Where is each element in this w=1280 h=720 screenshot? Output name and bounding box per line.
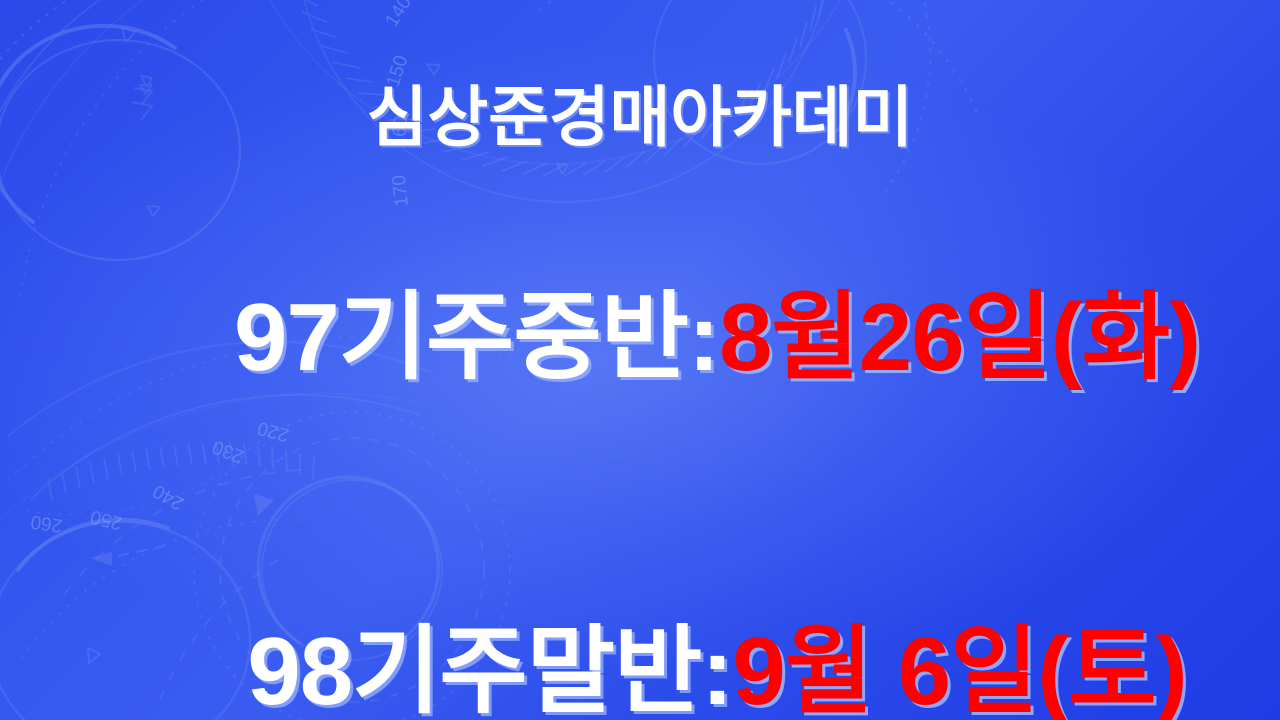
poster-canvas: 140 150 160 170 220 230 240 250 260 심상준경… bbox=[0, 0, 1280, 720]
schedule-line-97: 97기주중반:8월26일(화) bbox=[80, 168, 1200, 508]
schedule-97-date: 8월26일(화) bbox=[719, 284, 1200, 391]
schedule-line-98: 98기주말반:9월 6일(토) bbox=[93, 502, 1186, 720]
schedule-98-label: 98기주말반: bbox=[247, 618, 732, 720]
academy-title: 심상준경매아카데미 bbox=[367, 84, 913, 150]
schedule-98-date: 9월 6일(토) bbox=[732, 618, 1186, 720]
schedule-97-label: 97기주중반: bbox=[234, 284, 719, 391]
poster-content: 심상준경매아카데미 97기주중반:8월26일(화) 98기주말반:9월 6일(토… bbox=[0, 0, 1280, 720]
